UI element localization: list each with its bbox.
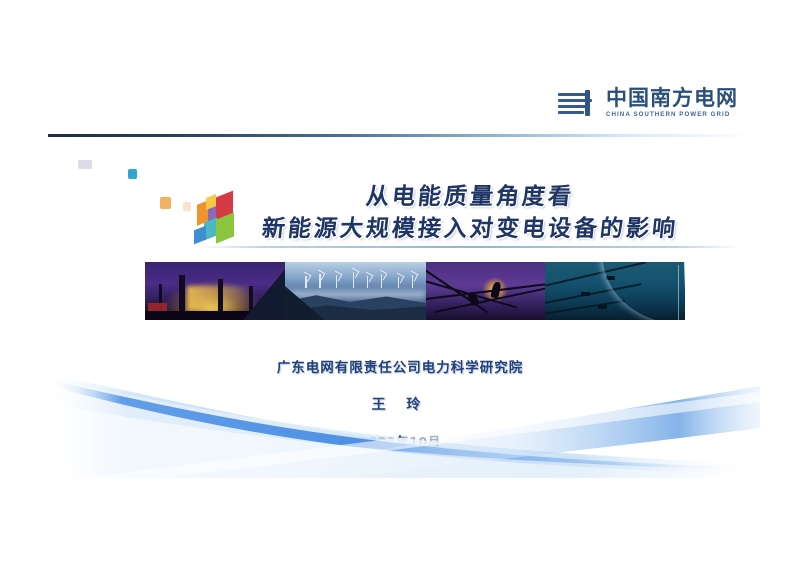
brand-name-en: CHINA SOUTHERN POWER GRID — [606, 112, 738, 118]
header-divider — [48, 134, 754, 137]
title-line-1: 从电能质量角度看 — [188, 182, 751, 212]
title-underline — [200, 246, 740, 248]
decor-square-orange-1 — [160, 197, 171, 209]
swoosh-svg — [40, 368, 760, 478]
brand-name-cn: 中国南方电网 — [606, 88, 738, 109]
brand-logo: 中国南方电网 CHINA SOUTHERN POWER GRID — [558, 88, 738, 118]
brand-text: 中国南方电网 CHINA SOUTHERN POWER GRID — [606, 88, 738, 118]
slide-title: 从电能质量角度看 新能源大规模接入对变电设备的影响 — [190, 182, 750, 245]
bottom-swoosh-decoration — [40, 368, 760, 478]
substation-night-photo — [145, 262, 285, 320]
photo-strip — [145, 262, 685, 320]
slide-canvas: 中国南方电网 CHINA SOUTHERN POWER GRID 从电能质量角度… — [40, 40, 760, 478]
csg-grid-mark-icon — [558, 90, 598, 116]
wind-farm-photo — [285, 262, 425, 320]
decor-square-cyan — [128, 169, 137, 179]
title-line-2: 新能源大规模接入对变电设备的影响 — [188, 214, 751, 244]
linemen-sunset-photo — [426, 262, 545, 320]
decor-square-gray — [78, 160, 92, 169]
transmission-lines-photo — [545, 262, 685, 320]
